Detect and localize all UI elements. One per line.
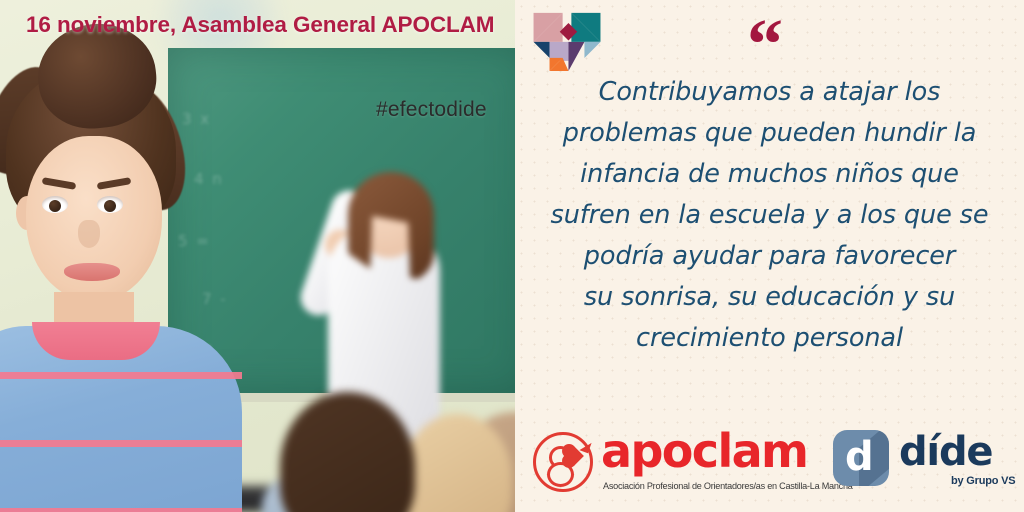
quote-line: problemas que pueden hundir la [529, 113, 1010, 154]
page-title: 16 noviembre, Asamblea General APOCLAM [26, 12, 494, 38]
quote-line: Contribuyamos a atajar los [529, 72, 1010, 113]
apoclam-tagline: Asociación Profesional de Orientadores/a… [603, 480, 853, 491]
quote-line: podría ayudar para favorecer [529, 236, 1010, 277]
hashtag-efectodide: #efectodide [376, 98, 487, 122]
apoclam-logo[interactable]: apoclam Asociación Profesional de Orient… [533, 426, 828, 500]
quote-mark-icon: “ [747, 8, 783, 80]
apoclam-mark-icon [533, 432, 593, 492]
quote-line: infancia de muchos niños que [529, 154, 1010, 195]
quote-line: crecimiento personal [529, 318, 1010, 359]
shirt-stripe [0, 372, 242, 379]
classroom-photo: 3 x 4 n 5 = 7 - 9 ? #efectodide [0, 0, 515, 512]
girl-pupil [49, 200, 61, 212]
shirt-stripe [0, 508, 242, 512]
girl-collar [32, 322, 160, 360]
girl-nose [78, 220, 100, 248]
girl-eye [97, 196, 123, 213]
logo-row: apoclam Asociación Profesional de Orient… [515, 418, 1024, 504]
dide-tile-icon: d [833, 430, 889, 486]
student-head [280, 392, 415, 512]
quote-panel: “ Contribuyamos a atajar los problemas q… [515, 0, 1024, 512]
dide-tile-letter: d [845, 437, 874, 477]
butterfly-tangram-logo [530, 7, 604, 71]
girl-mouth [64, 263, 120, 281]
dide-wordmark: díde [899, 432, 992, 472]
dide-byline: by Grupo VS [951, 475, 1015, 487]
girl-eye [42, 196, 68, 213]
quote-text: Contribuyamos a atajar los problemas que… [529, 72, 1010, 359]
quote-line: su sonrisa, su educación y su [529, 277, 1010, 318]
promo-poster: 3 x 4 n 5 = 7 - 9 ? #efectodide [0, 0, 1024, 512]
girl-pupil [104, 200, 116, 212]
dide-logo[interactable]: d díde by Grupo VS [833, 430, 1023, 494]
apoclam-arrow-icon [579, 440, 591, 453]
shirt-stripe [0, 440, 242, 447]
apoclam-wordmark: apoclam [601, 428, 807, 474]
girl-portrait [0, 20, 252, 512]
quote-line: sufren en la escuela y a los que se [529, 195, 1010, 236]
